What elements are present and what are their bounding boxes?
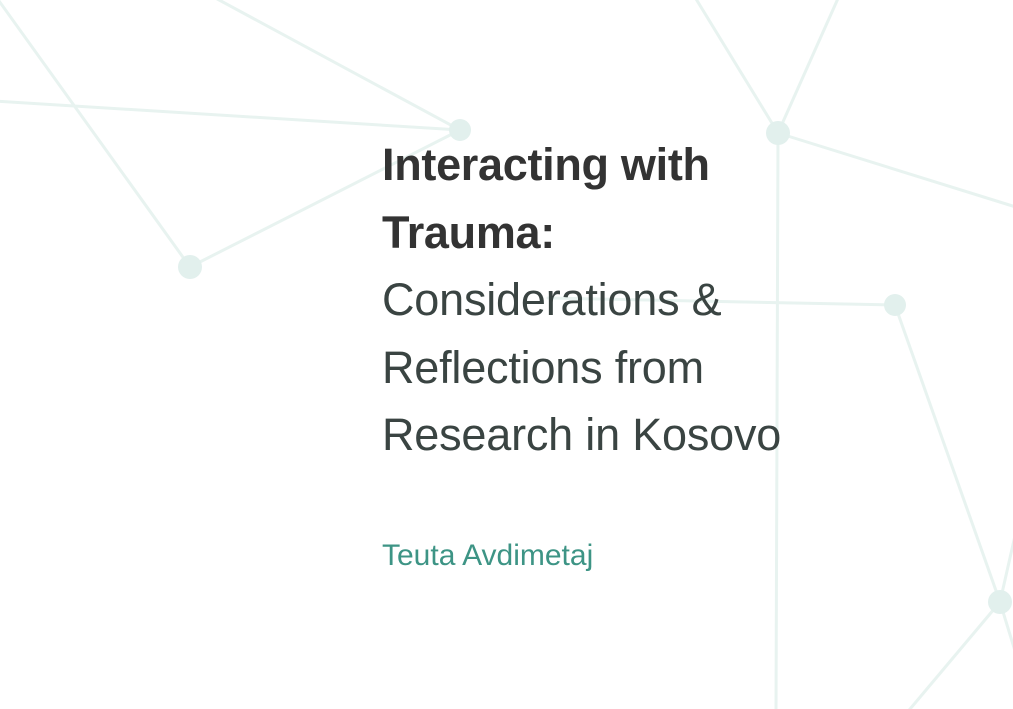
edge-n1-leftedge xyxy=(0,101,460,130)
network-node-5 xyxy=(988,590,1012,614)
edge-n3-topright xyxy=(778,0,840,133)
edge-n5-rightupper xyxy=(1000,518,1013,602)
title-block: Interacting with Trauma: Considerations … xyxy=(382,131,882,469)
edge-n1-topedge xyxy=(208,0,460,130)
edge-n3-topleft xyxy=(693,0,778,133)
edge-n4-n5 xyxy=(895,305,1000,602)
page-title-bold: Interacting with Trauma: xyxy=(382,131,882,266)
network-node-2 xyxy=(178,255,202,279)
network-node-4 xyxy=(884,294,906,316)
page-subtitle: Considerations & Reflections from Resear… xyxy=(382,266,882,469)
edge-n5-rightlower xyxy=(1000,602,1013,664)
edge-n5-bottomleft xyxy=(905,602,1000,709)
edge-n2-topleft xyxy=(0,0,190,267)
author-block: Teuta Avdimetaj xyxy=(382,538,882,574)
author-name: Teuta Avdimetaj xyxy=(382,538,882,574)
presentation-title-slide: Interacting with Trauma: Considerations … xyxy=(0,0,1013,709)
